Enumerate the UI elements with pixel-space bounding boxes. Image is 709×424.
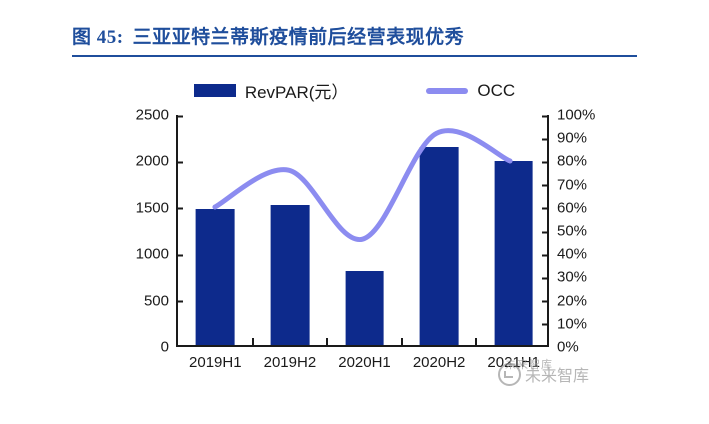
- tick-mark: [542, 254, 548, 256]
- tick-mark: [542, 301, 548, 303]
- x-axis-label: 2019H2: [264, 354, 317, 371]
- y-tick-left: 500: [144, 292, 178, 309]
- tick-mark: [542, 208, 548, 210]
- y-tick-left: 1000: [136, 246, 178, 263]
- x-axis-label: 2020H2: [413, 354, 466, 371]
- circle-check-icon: [498, 363, 521, 386]
- tick-mark: [177, 115, 183, 117]
- y-tick-right: 40%: [547, 246, 587, 263]
- tick-mark: [542, 324, 548, 326]
- tick-mark: [177, 301, 183, 303]
- tick-mark: [177, 161, 183, 163]
- watermark: 未来智库: [498, 362, 589, 386]
- y-tick-right: 0%: [547, 339, 579, 356]
- watermark-text: 未来智库: [525, 362, 589, 386]
- y-tick-right: 70%: [547, 176, 587, 193]
- bar[interactable]: [271, 205, 310, 345]
- chart-canvas: 05001000150020002500 0%10%20%30%40%50%60…: [0, 0, 709, 424]
- y-tick-right: 60%: [547, 199, 587, 216]
- y-tick-right: 50%: [547, 223, 587, 240]
- y-tick-right: 80%: [547, 153, 587, 170]
- x-tick-mark: [326, 338, 328, 345]
- tick-mark: [177, 208, 183, 210]
- occ-line-path: [215, 131, 510, 240]
- y-tick-left: 2000: [136, 153, 178, 170]
- tick-mark: [177, 254, 183, 256]
- y-tick-right: 10%: [547, 315, 587, 332]
- bar[interactable]: [345, 271, 384, 345]
- x-axis-label: 2019H1: [189, 354, 242, 371]
- plot-area: 05001000150020002500 0%10%20%30%40%50%60…: [176, 115, 549, 347]
- tick-mark: [542, 138, 548, 140]
- y-tick-left: 1500: [136, 199, 178, 216]
- x-axis-label: 2020H1: [338, 354, 391, 371]
- tick-mark: [542, 277, 548, 279]
- x-tick-mark: [475, 338, 477, 345]
- y-tick-right: 30%: [547, 269, 587, 286]
- tick-mark: [542, 115, 548, 117]
- y-tick-left: 0: [161, 339, 178, 356]
- tick-mark: [542, 185, 548, 187]
- bar[interactable]: [420, 147, 459, 345]
- y-tick-right: 20%: [547, 292, 587, 309]
- x-tick-mark: [252, 338, 254, 345]
- tick-mark: [542, 161, 548, 163]
- bar[interactable]: [494, 161, 533, 345]
- tick-mark: [542, 231, 548, 233]
- x-tick-mark: [401, 338, 403, 345]
- bar[interactable]: [196, 209, 235, 345]
- y-tick-left: 2500: [136, 107, 178, 124]
- y-tick-right: 100%: [547, 107, 595, 124]
- y-tick-right: 90%: [547, 130, 587, 147]
